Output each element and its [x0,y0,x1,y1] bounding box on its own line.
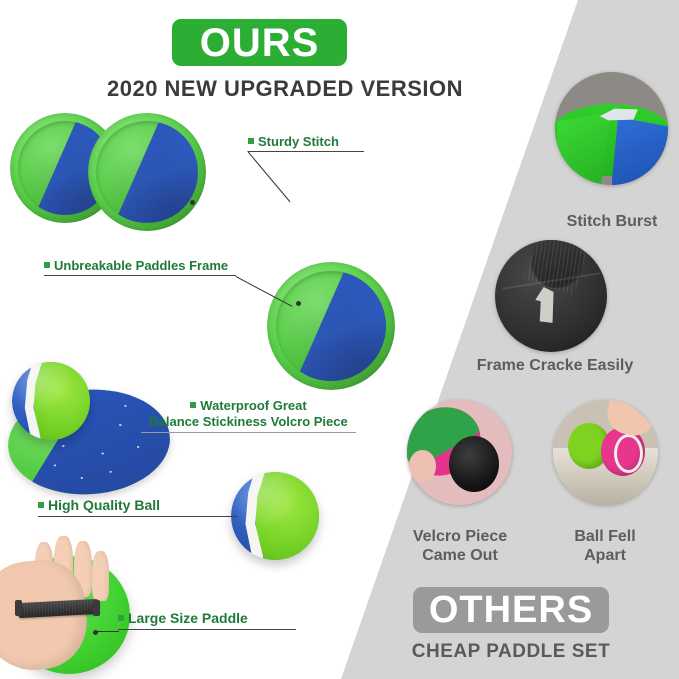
caption-frame-crack: Frame Cracke Easily [455,356,655,375]
callout-rule [38,516,238,517]
leader-dot [296,301,301,306]
bullet-square-icon [44,262,50,268]
callout-text: Large Size Paddle [128,610,248,626]
callout-unbreakable-frame: Unbreakable Paddles Frame [44,258,236,276]
callout-rule [118,629,296,630]
caption-line2: Came Out [385,546,535,565]
callout-rule [44,275,236,276]
callout-text: Unbreakable Paddles Frame [54,258,228,273]
strap-buckle [15,600,22,616]
callout-label: Unbreakable Paddles Frame [44,258,236,274]
ours-badge: OURS [172,19,347,66]
paddle-shading [88,113,206,231]
bullet-square-icon [38,502,44,508]
ball-standalone [231,472,319,560]
exposed-paddle-hole [449,436,499,493]
bullet-square-icon [118,615,124,621]
ball-highlight [231,472,319,560]
others-subtitle: CHEAP PADDLE SET [393,641,629,663]
callout-sturdy-stitch: Sturdy Stitch [248,134,364,152]
others-badge-label: OTHERS [429,591,593,629]
hand-holding-paddle [8,556,130,674]
callout-rule [248,151,364,152]
bullet-square-icon [248,138,254,144]
strap-buckle [93,600,100,616]
photo-ball-fell-apart [553,400,658,505]
ours-subtitle: 2020 NEW UPGRADED VERSION [105,76,465,102]
frame-crack [535,287,560,323]
photo-frame-crack [495,240,607,352]
callout-label-line1: Waterproof Great [141,398,356,414]
leader-line-large-size-paddle [95,631,119,632]
ball-torn-rim [614,434,643,474]
comparison-infographic: OURS 2020 NEW UPGRADED VERSION [0,0,679,679]
leader-line-sturdy-stitch [247,151,290,202]
ours-badge-label: OURS [200,23,320,63]
callout-label: Sturdy Stitch [248,134,364,150]
paddle-strap [524,240,589,294]
callout-rule [141,432,356,433]
callout-label: Large Size Paddle [118,610,278,628]
photo-velcro-came-out [407,400,512,505]
thumb [409,450,436,482]
caption-line1: Ball Fell [540,527,670,546]
bullet-square-icon [190,402,196,408]
callout-waterproof-velcro: Waterproof Great Balance Stickiness Volc… [141,398,356,433]
caption-line2: Apart [540,546,670,565]
paddle-shading [267,262,395,390]
caption-velcro-came-out: Velcro Piece Came Out [385,527,535,565]
caption-line1: Velcro Piece [385,527,535,546]
callout-text: High Quality Ball [48,497,160,513]
paddle-single [267,262,395,390]
photo-stitch-burst [555,72,668,185]
paddle-pair-right [88,113,206,231]
strap-texture [524,240,589,294]
callout-large-size-paddle: Large Size Paddle [118,610,278,630]
callout-label: High Quality Ball [38,497,188,515]
caption-stitch-burst: Stitch Burst [532,212,679,231]
callout-label-line2: Balance Stickiness Volcro Piece [141,414,356,430]
callout-text: Sturdy Stitch [258,134,339,149]
callout-high-quality-ball: High Quality Ball [38,497,188,517]
ball-highlight [12,362,90,440]
callout-text: Waterproof Great [200,398,306,413]
leader-dot [190,200,195,205]
blue-velcro [612,117,669,185]
others-badge: OTHERS [413,587,609,633]
ball-on-paddle [12,362,90,440]
caption-ball-fell-apart: Ball Fell Apart [540,527,670,565]
finger [92,551,109,601]
